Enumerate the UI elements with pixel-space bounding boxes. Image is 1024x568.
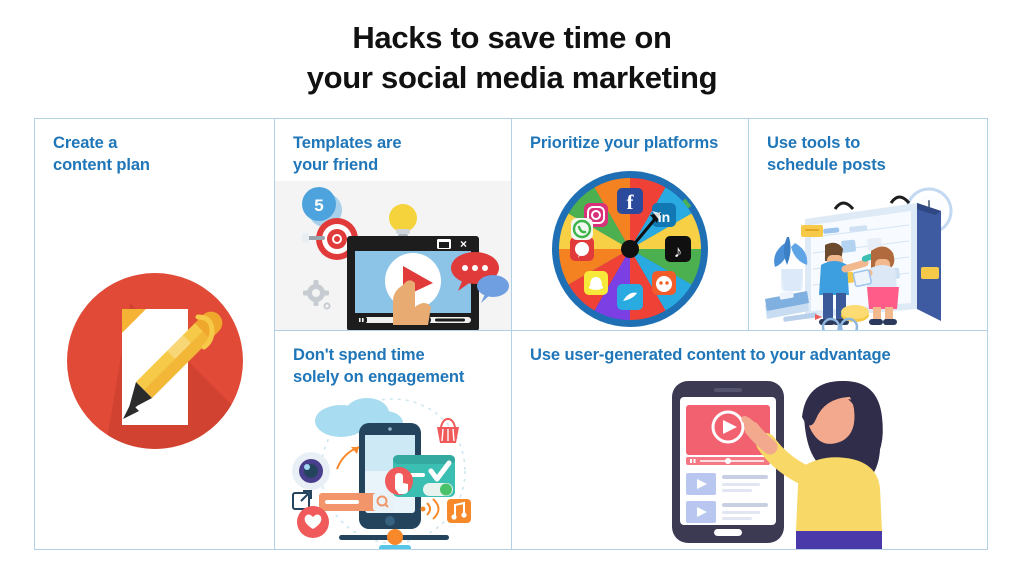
card-tools[interactable]: Use tools to schedule posts: [749, 119, 987, 331]
social-media-spin-wheel-illustration: f in ♪: [512, 167, 748, 331]
badge-number: 5: [314, 196, 323, 215]
video-player-illustration: 5: [275, 181, 511, 331]
cards-grid: Create a content plan: [34, 118, 988, 550]
clipboard-icon: [853, 270, 872, 287]
pinterest-icon: [570, 237, 594, 261]
snapchat-icon: [584, 271, 608, 295]
ugc-svg: [512, 375, 987, 549]
hand-cursor-icon: [385, 467, 413, 495]
svg-text:♪: ♪: [674, 242, 683, 261]
pause-icon: [355, 317, 367, 323]
card-templates-title: Templates are your friend: [293, 133, 503, 177]
card-prioritize[interactable]: Prioritize your platforms: [512, 119, 749, 331]
potted-plant-icon: [774, 237, 807, 291]
heart-icon: [297, 506, 329, 538]
document-pen-svg: [35, 211, 275, 511]
card-engagement-title-line-2: solely on engagement: [293, 368, 464, 386]
card-ugc[interactable]: Use user-generated content to your advan…: [512, 331, 987, 549]
facebook-icon: f: [617, 188, 643, 214]
card-content-plan-title-line-2: content plan: [53, 156, 150, 174]
calendar-planning-svg: [749, 181, 987, 331]
card-tools-title-line-2: schedule posts: [767, 156, 886, 174]
tiktok-icon: ♪: [665, 236, 691, 262]
lightbulb-icon: [389, 204, 417, 238]
pants: [796, 531, 882, 549]
card-content-plan-title: Create a content plan: [53, 133, 266, 177]
reddit-icon: [652, 271, 676, 295]
card-tools-title: Use tools to schedule posts: [767, 133, 979, 177]
mobile-engagement-illustration: [275, 393, 511, 549]
video-player-svg: 5: [275, 181, 512, 331]
toggle-knob: [440, 484, 452, 496]
card-content-plan[interactable]: Create a content plan: [35, 119, 275, 549]
mobile-engagement-svg: [275, 393, 512, 549]
document-and-pen-illustration: [35, 211, 274, 511]
slider-knob: [387, 529, 403, 545]
home-button: [714, 529, 742, 536]
camera-icon: [292, 452, 330, 490]
page-title-line-1: Hacks to save time on: [0, 18, 1024, 58]
svg-text:f: f: [627, 190, 635, 214]
shopping-basket-icon: [437, 419, 459, 443]
card-engagement-title: Don't spend time solely on engagement: [293, 345, 503, 389]
card-tools-title-line-1: Use tools to: [767, 134, 860, 152]
smartphone-icon: [672, 381, 784, 543]
dart-fin: [302, 233, 309, 243]
calendar-planning-illustration: [749, 181, 987, 331]
card-engagement-title-line-1: Don't spend time: [293, 346, 425, 364]
twitter-icon: [617, 284, 643, 310]
card-prioritize-title: Prioritize your platforms: [530, 133, 740, 155]
page-title: Hacks to save time on your social media …: [0, 18, 1024, 97]
center-hub: [621, 240, 639, 258]
whatsapp-icon: [571, 218, 593, 240]
user-generated-video-illustration: [512, 375, 987, 549]
card-templates-title-line-1: Templates are: [293, 134, 401, 152]
gear-icon: [303, 280, 331, 310]
wifi-icon: [421, 499, 439, 519]
card-engagement[interactable]: Don't spend time solely on engagement: [275, 331, 512, 549]
card-content-plan-title-line-1: Create a: [53, 134, 117, 152]
card-templates-title-line-2: your friend: [293, 156, 378, 174]
spin-wheel-svg: f in ♪: [512, 167, 749, 331]
card-templates[interactable]: Templates are your friend 5: [275, 119, 512, 331]
close-icon: ×: [460, 237, 467, 251]
music-note-icon: [447, 499, 471, 523]
search-bar: [319, 493, 393, 511]
card-ugc-title: Use user-generated content to your advan…: [530, 345, 979, 367]
share-icon: [293, 491, 311, 509]
phone-speaker: [714, 388, 742, 392]
page-title-line-2: your social media marketing: [0, 58, 1024, 98]
